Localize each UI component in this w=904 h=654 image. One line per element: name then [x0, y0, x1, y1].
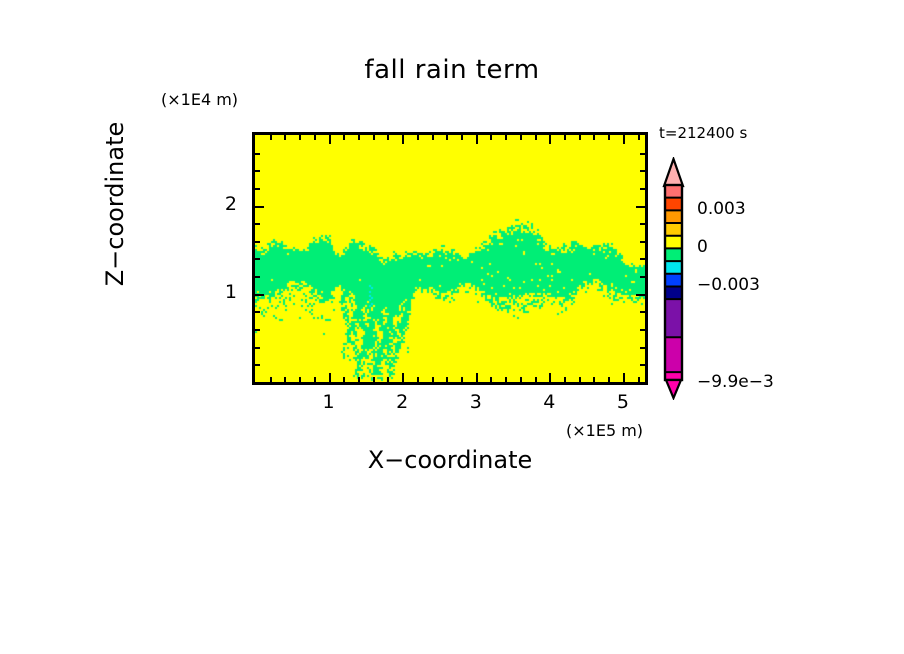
colorbar-segment: [665, 185, 682, 199]
y-tick-right: [636, 206, 645, 208]
colorbar-segment: [665, 261, 682, 275]
x-tick-bottom: [505, 377, 507, 382]
x-axis-unit-label: (×1E5 m): [566, 421, 643, 440]
x-tick-top: [417, 135, 419, 140]
x-tick-bottom: [314, 377, 316, 382]
x-tick-label: 4: [534, 391, 564, 413]
y-tick-left: [255, 347, 260, 349]
x-tick-label: 5: [608, 391, 638, 413]
x-tick-bottom: [343, 377, 345, 382]
x-tick-label: 3: [461, 391, 491, 413]
colorbar-label: −0.003: [697, 275, 760, 295]
colorbar-segment: [665, 337, 682, 373]
x-tick-bottom: [358, 377, 360, 382]
x-tick-bottom: [417, 377, 419, 382]
time-annotation: t=212400 s: [659, 124, 747, 142]
page-title: fall rain term: [0, 55, 904, 85]
colorbar-segment: [665, 248, 682, 262]
x-tick-bottom: [579, 377, 581, 382]
x-tick-top: [402, 135, 404, 144]
x-tick-top: [638, 135, 640, 140]
x-tick-bottom: [564, 377, 566, 382]
y-tick-left: [255, 241, 260, 243]
x-tick-top: [579, 135, 581, 140]
x-tick-bottom: [329, 373, 331, 382]
x-tick-top: [446, 135, 448, 140]
x-tick-bottom: [461, 377, 463, 382]
x-tick-top: [623, 135, 625, 144]
x-tick-bottom: [593, 377, 595, 382]
colorbar-bottom-arrow: [666, 380, 681, 398]
x-tick-bottom: [520, 377, 522, 382]
x-tick-top: [387, 135, 389, 140]
y-tick-right: [640, 188, 645, 190]
colorbar: [659, 157, 689, 400]
y-axis-title: Z−coordinate: [101, 84, 129, 324]
x-tick-bottom: [387, 377, 389, 382]
x-tick-top: [608, 135, 610, 140]
y-tick-left: [255, 170, 260, 172]
x-tick-top: [520, 135, 522, 140]
colorbar-label: −9.9e−3: [697, 372, 774, 392]
y-tick-right: [640, 347, 645, 349]
y-tick-left: [255, 188, 260, 190]
y-axis-unit-label: (×1E4 m): [161, 90, 238, 109]
colorbar-label: 0.003: [697, 199, 746, 219]
colorbar-segment: [665, 223, 682, 237]
y-tick-left: [255, 329, 260, 331]
y-tick-right: [640, 241, 645, 243]
x-tick-bottom: [284, 377, 286, 382]
colorbar-segment: [665, 274, 682, 288]
x-tick-top: [299, 135, 301, 140]
x-tick-label: 2: [387, 391, 417, 413]
x-tick-top: [505, 135, 507, 140]
y-tick-left: [255, 258, 260, 260]
plot-area: [252, 132, 648, 385]
x-tick-top: [314, 135, 316, 140]
x-tick-top: [535, 135, 537, 140]
x-tick-bottom: [623, 373, 625, 382]
x-tick-top: [432, 135, 434, 140]
y-tick-left: [255, 276, 260, 278]
y-tick-right: [640, 311, 645, 313]
x-tick-bottom: [608, 377, 610, 382]
colorbar-swatches: [659, 157, 689, 400]
colorbar-segment: [665, 198, 682, 212]
x-tick-bottom: [373, 377, 375, 382]
x-tick-top: [358, 135, 360, 140]
y-tick-label: 2: [213, 193, 237, 215]
x-tick-bottom: [535, 377, 537, 382]
x-tick-bottom: [270, 377, 272, 382]
y-tick-left: [255, 153, 260, 155]
y-tick-left: [255, 206, 264, 208]
colorbar-segment: [665, 236, 682, 250]
x-tick-top: [593, 135, 595, 140]
x-axis-title: X−coordinate: [250, 446, 650, 474]
x-tick-bottom: [549, 373, 551, 382]
y-tick-right: [636, 294, 645, 296]
y-tick-right: [640, 153, 645, 155]
x-tick-bottom: [476, 373, 478, 382]
x-tick-bottom: [432, 377, 434, 382]
colorbar-label: 0: [697, 237, 708, 257]
figure-canvas: fall rain term (×1E4 m) (×1E5 m) t=21240…: [0, 0, 904, 654]
x-tick-top: [564, 135, 566, 140]
x-tick-bottom: [446, 377, 448, 382]
y-tick-left: [255, 364, 260, 366]
field-heatmap: [255, 135, 645, 382]
x-tick-label: 1: [314, 391, 344, 413]
colorbar-top-arrow: [664, 159, 683, 186]
y-tick-right: [640, 170, 645, 172]
x-tick-bottom: [299, 377, 301, 382]
x-tick-top: [329, 135, 331, 144]
y-tick-right: [640, 223, 645, 225]
x-tick-top: [373, 135, 375, 140]
y-tick-label: 1: [213, 281, 237, 303]
x-tick-top: [490, 135, 492, 140]
x-tick-bottom: [490, 377, 492, 382]
y-tick-left: [255, 294, 264, 296]
x-tick-top: [549, 135, 551, 144]
y-tick-left: [255, 223, 260, 225]
y-tick-left: [255, 311, 260, 313]
y-tick-right: [640, 364, 645, 366]
x-tick-top: [343, 135, 345, 140]
x-tick-bottom: [402, 373, 404, 382]
y-tick-right: [640, 276, 645, 278]
x-tick-top: [270, 135, 272, 140]
x-tick-bottom: [638, 377, 640, 382]
x-tick-top: [461, 135, 463, 140]
x-tick-top: [476, 135, 478, 144]
x-tick-top: [284, 135, 286, 140]
y-tick-right: [640, 258, 645, 260]
colorbar-segment: [665, 299, 682, 339]
y-tick-right: [640, 329, 645, 331]
colorbar-segment: [665, 286, 682, 300]
colorbar-segment: [665, 210, 682, 224]
